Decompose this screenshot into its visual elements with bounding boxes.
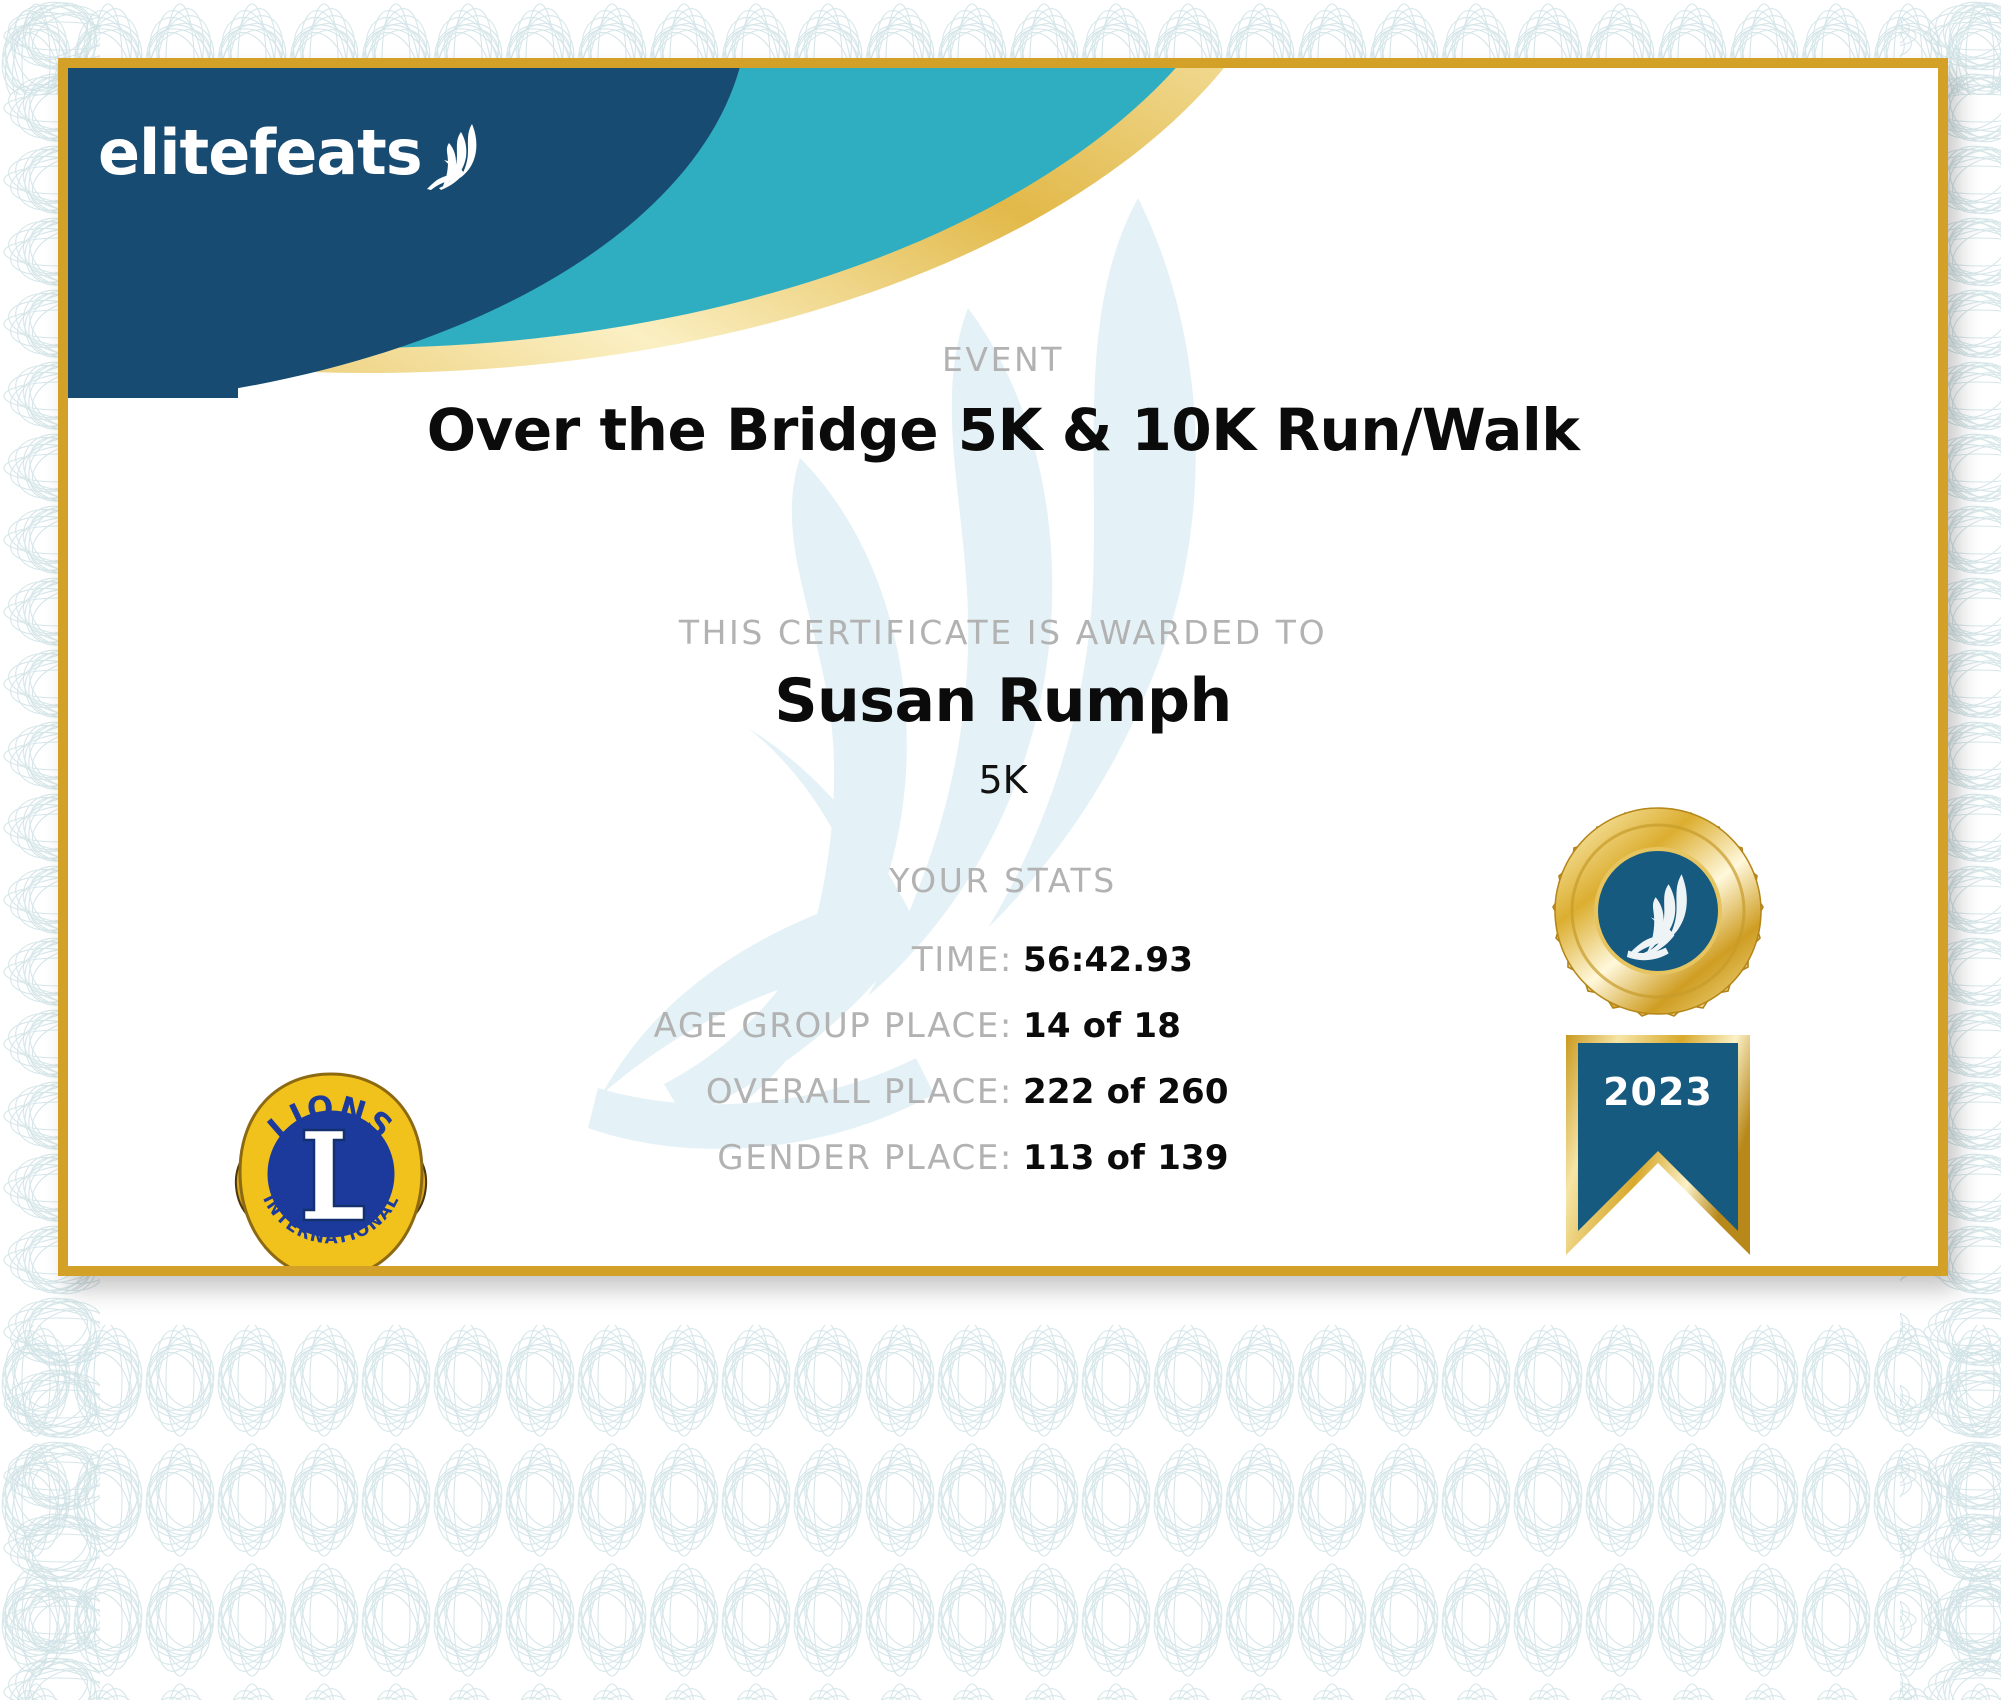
event-label: EVENT [68, 340, 1938, 379]
stat-value-time: 56:42.93 [1023, 940, 1193, 980]
stat-label-time: TIME: [68, 940, 1023, 980]
recipient-name: Susan Rumph [68, 666, 1938, 736]
event-title: Over the Bridge 5K & 10K Run/Walk [68, 396, 1938, 464]
finisher-medal-rosette-icon: 2023 [1508, 803, 1808, 1266]
certificate-body: elitefeats EVENT Over the Bridge 5K & 10… [68, 68, 1938, 1266]
certificate-page: elitefeats EVENT Over the Bridge 5K & 10… [0, 0, 2001, 1700]
stat-label-age-group-place: AGE GROUP PLACE: [68, 1006, 1023, 1046]
finisher-medal-block: 2023 [1488, 803, 1828, 1266]
awarded-to-label: THIS CERTIFICATE IS AWARDED TO [68, 613, 1938, 652]
stat-value-overall-place: 222 of 260 [1023, 1072, 1229, 1112]
medal-ribbon-year: 2023 [1603, 1070, 1713, 1114]
lions-international-emblem-icon: LIONS INTERNATIONAL [216, 1068, 446, 1266]
certificate-content: EVENT Over the Bridge 5K & 10K Run/Walk … [68, 68, 1938, 1266]
stat-value-age-group-place: 14 of 18 [1023, 1006, 1181, 1046]
recipient-distance: 5K [68, 758, 1938, 802]
stat-value-gender-place: 113 of 139 [1023, 1138, 1229, 1178]
lions-sponsor-block: LIONS INTERNATIONAL "Over the Bridge" 5K… [146, 1068, 516, 1266]
